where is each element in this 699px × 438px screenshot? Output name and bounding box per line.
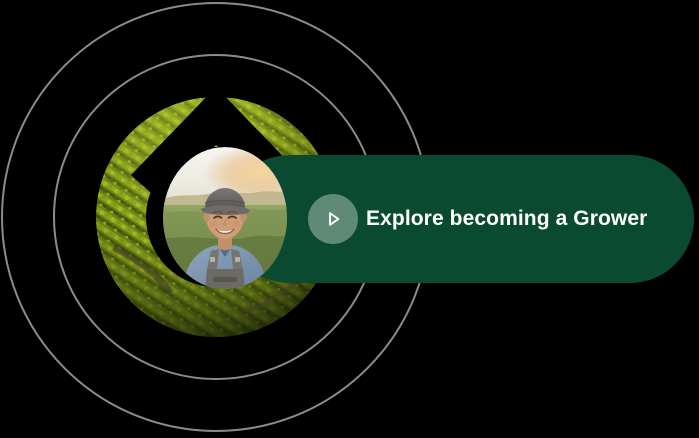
- grower-avatar: [163, 147, 287, 289]
- promo-banner: Explore becoming a Grower: [0, 0, 699, 438]
- play-icon[interactable]: [308, 194, 358, 244]
- grower-avatar-photo: [163, 147, 287, 289]
- explore-grower-button[interactable]: Explore becoming a Grower: [226, 155, 694, 283]
- cta-label: Explore becoming a Grower: [366, 205, 647, 233]
